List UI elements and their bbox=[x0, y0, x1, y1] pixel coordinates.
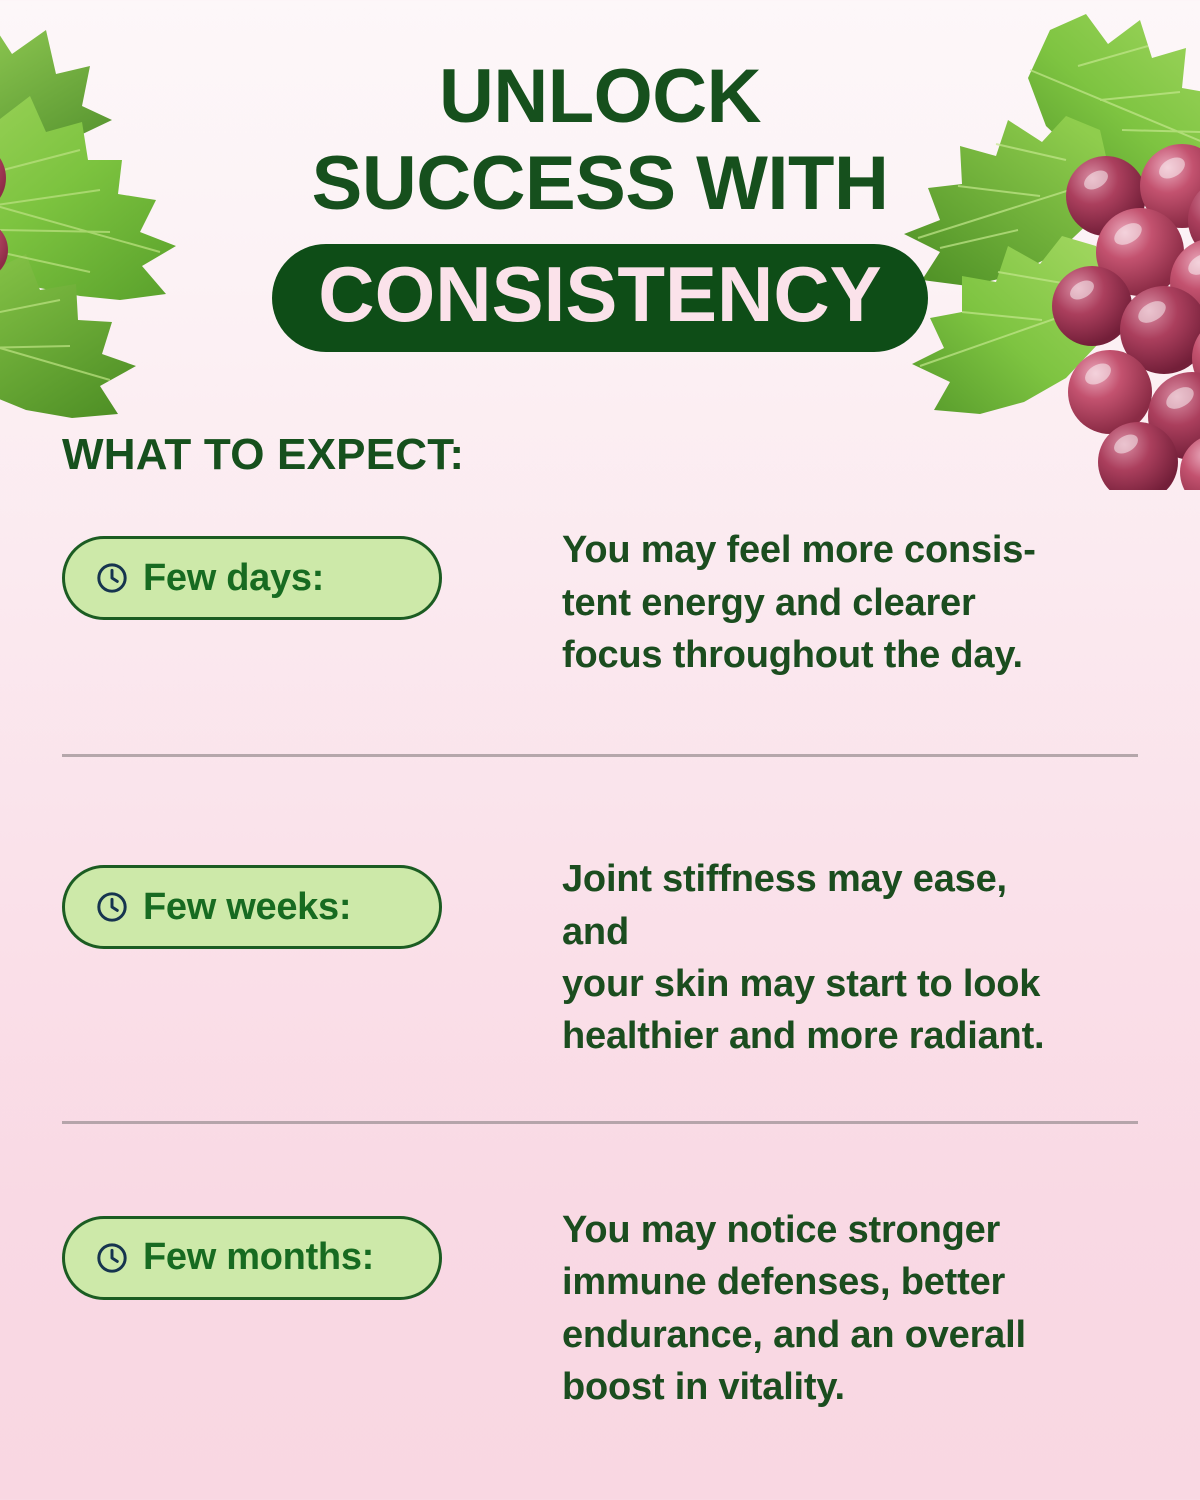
expectation-text-line: boost in vitality. bbox=[562, 1361, 1082, 1413]
clock-icon bbox=[95, 1241, 129, 1275]
consistency-badge: CONSISTENCY bbox=[272, 244, 927, 352]
expectation-text-line: your skin may start to look bbox=[562, 958, 1082, 1010]
clock-icon bbox=[95, 561, 129, 595]
timeframe-pill-label: Few weeks: bbox=[143, 886, 351, 929]
clock-icon bbox=[95, 890, 129, 924]
what-to-expect-heading: WHAT TO EXPECT: bbox=[62, 430, 1200, 480]
list-item: Few weeks: Joint stiffness may ease, and… bbox=[0, 853, 1200, 1063]
page-title-line-2: SUCCESS WITH bbox=[0, 141, 1200, 226]
page-title-line-1: UNLOCK bbox=[0, 54, 1200, 139]
timeframe-pill-few-weeks[interactable]: Few weeks: bbox=[62, 865, 442, 949]
timeframe-pill-label: Few days: bbox=[143, 557, 324, 600]
expectation-text-line: healthier and more radiant. bbox=[562, 1010, 1082, 1062]
timeframe-pill-few-days[interactable]: Few days: bbox=[62, 536, 442, 620]
expectation-text: You may feel more consis- tent energy an… bbox=[562, 524, 1082, 681]
consistency-badge-wrap: CONSISTENCY bbox=[0, 244, 1200, 352]
expectation-text-line: You may feel more consis- bbox=[562, 524, 1082, 576]
expectation-text: Joint stiffness may ease, and your skin … bbox=[562, 853, 1082, 1063]
row-divider bbox=[62, 1121, 1138, 1124]
consistency-badge-label: CONSISTENCY bbox=[318, 254, 881, 336]
expectation-text-line: focus throughout the day. bbox=[562, 629, 1082, 681]
expectation-text-line: Joint stiffness may ease, and bbox=[562, 853, 1082, 958]
expectation-text-line: tent energy and clearer bbox=[562, 577, 1082, 629]
expectation-text: You may notice stronger immune defenses,… bbox=[562, 1204, 1082, 1414]
expectation-text-line: endurance, and an overall bbox=[562, 1309, 1082, 1361]
list-item: Few months: You may notice stronger immu… bbox=[0, 1204, 1200, 1424]
page-header: UNLOCK SUCCESS WITH CONSISTENCY bbox=[0, 0, 1200, 352]
expectations-list: Few days: You may feel more consis- tent… bbox=[0, 524, 1200, 1424]
list-item: Few days: You may feel more consis- tent… bbox=[0, 524, 1200, 696]
timeframe-pill-few-months[interactable]: Few months: bbox=[62, 1216, 442, 1300]
row-divider bbox=[62, 754, 1138, 757]
expectation-text-line: You may notice stronger bbox=[562, 1204, 1082, 1256]
expectation-text-line: immune defenses, better bbox=[562, 1256, 1082, 1308]
timeframe-pill-label: Few months: bbox=[143, 1236, 374, 1279]
